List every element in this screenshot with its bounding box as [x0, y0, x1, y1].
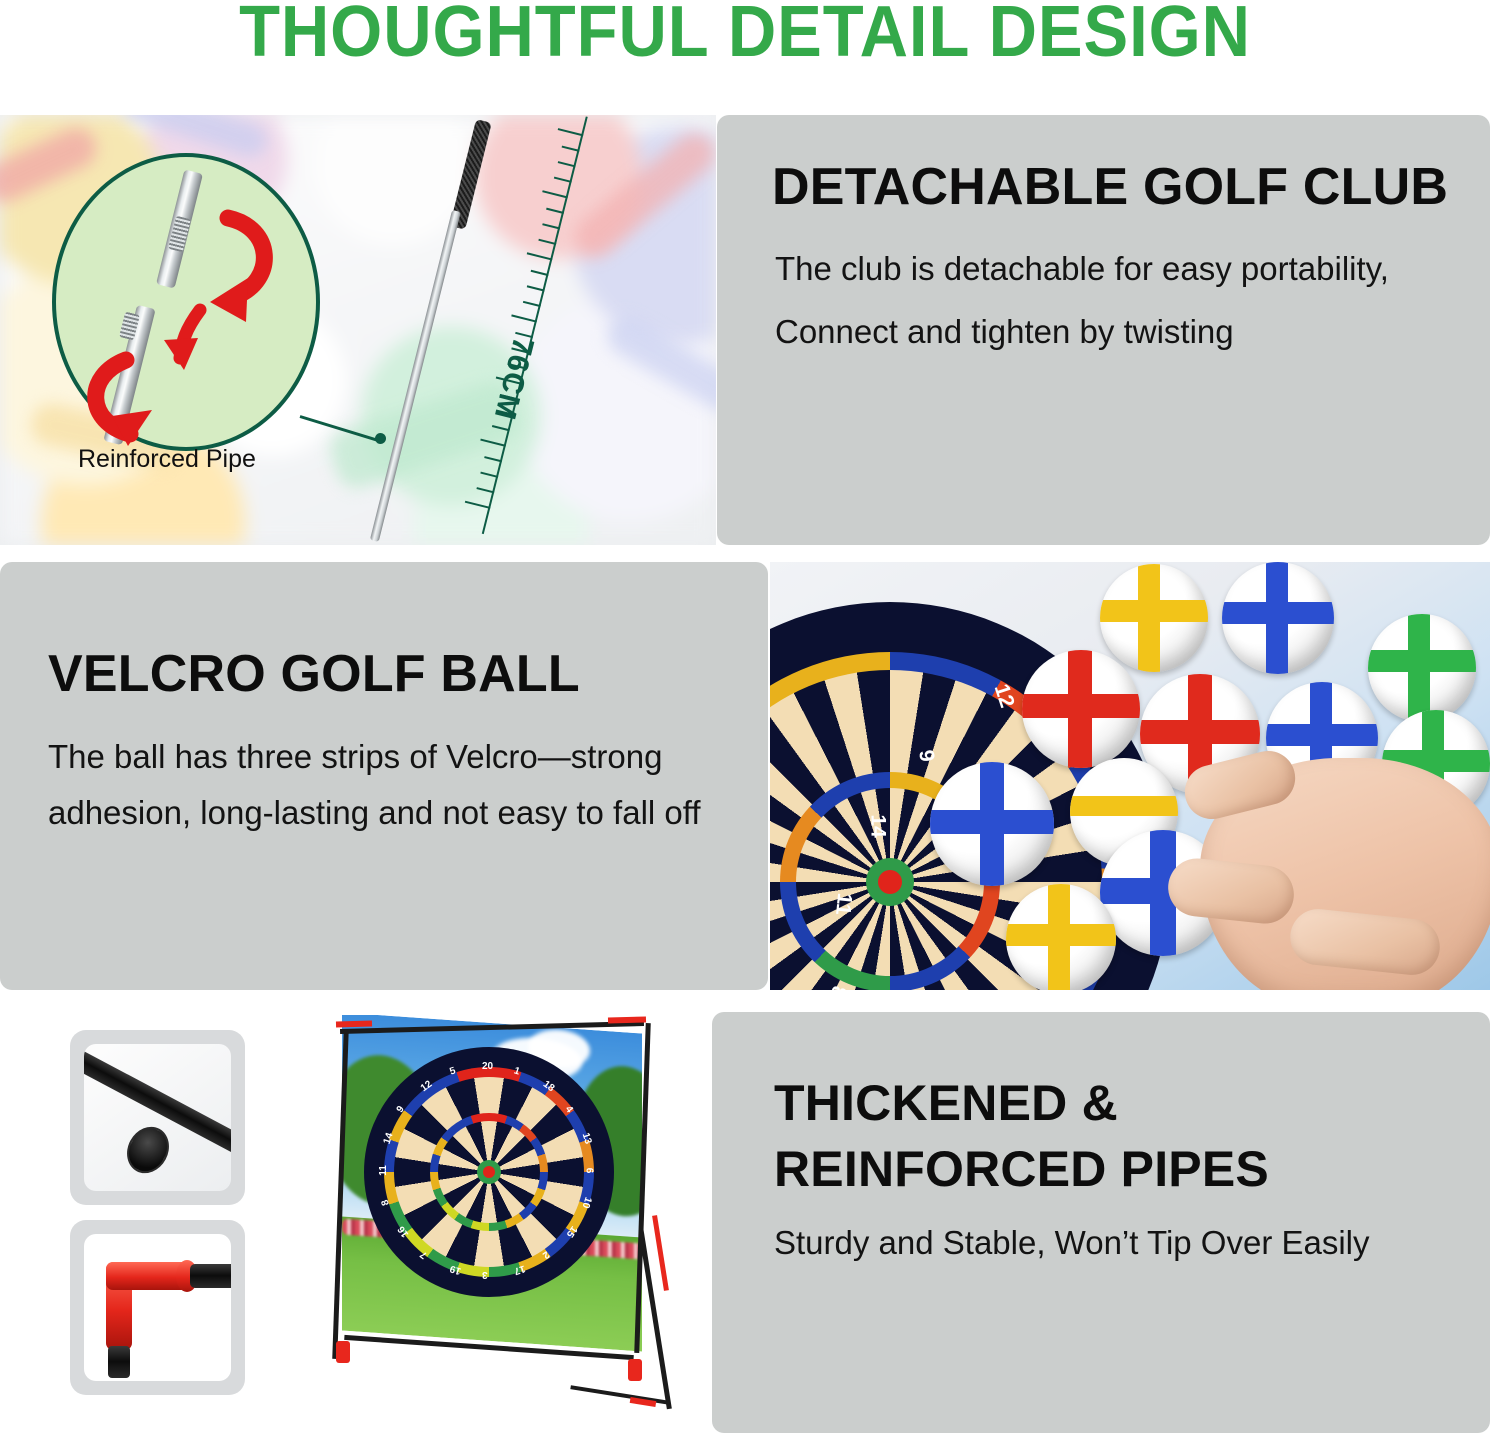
panel-body-line-1: The ball has three strips of Velcro—stro… — [48, 738, 662, 776]
stand-rear-leg-red — [652, 1215, 669, 1291]
stand-top-right-cap — [608, 1017, 646, 1024]
velcro-golf-ball-panel: VELCRO GOLF BALL The ball has three stri… — [0, 562, 768, 990]
black-pipe — [108, 1346, 130, 1378]
stand-dartboard-number: 11 — [378, 1165, 389, 1176]
velcro-ball — [1368, 614, 1476, 722]
thickened-pipes-panel: THICKENED & REINFORCED PIPES Sturdy and … — [712, 1012, 1490, 1433]
infographic-page: THOUGHTFUL DETAIL DESIGN Reinforced Pipe — [0, 0, 1490, 1439]
reinforced-pipe-label: Reinforced Pipe — [78, 445, 256, 474]
velcro-ball — [1222, 562, 1334, 674]
velcro-balls-photo: 5 12 9 14 11 8 — [770, 562, 1490, 990]
velcro-ball — [930, 762, 1054, 886]
panel-heading: DETACHABLE GOLF CLUB — [772, 157, 1448, 217]
stand-top-left-cap — [336, 1021, 372, 1028]
panel-heading-line-2: REINFORCED PIPES — [774, 1140, 1269, 1198]
panel-subtext: Sturdy and Stable, Won’t Tip Over Easily — [774, 1224, 1370, 1262]
velcro-ball — [1006, 884, 1116, 990]
dartboard-stand-photo: 2011841361015217319716811149125 — [322, 1015, 714, 1435]
velcro-ball — [1100, 564, 1208, 672]
pipe-opening — [119, 1119, 177, 1180]
red-elbow-tile — [70, 1220, 245, 1395]
stand-dartboard-number: 20 — [482, 1061, 493, 1072]
page-title: THOUGHTFUL DETAIL DESIGN — [52, 0, 1438, 68]
detachable-golf-club-panel: DETACHABLE GOLF CLUB The club is detacha… — [717, 115, 1490, 545]
reinforced-pipe-photo: Reinforced Pipe — [0, 115, 716, 545]
stand-dartboard-bullseye — [483, 1166, 495, 1178]
dartboard-number: 11 — [830, 892, 856, 917]
panel-body-line-2: Connect and tighten by twisting — [775, 313, 1234, 351]
stand-dartboard-number: 3 — [482, 1269, 488, 1280]
black-pipe-tile — [70, 1030, 245, 1205]
dartboard-number: 14 — [866, 814, 890, 837]
callout-leader-dot — [375, 433, 386, 444]
stand-left-foot — [336, 1341, 350, 1363]
dartboard-bullseye — [878, 870, 902, 894]
panel-body-line-1: The club is detachable for easy portabil… — [775, 250, 1389, 288]
panel-heading: VELCRO GOLF BALL — [48, 644, 580, 704]
panel-heading-line-1: THICKENED & — [774, 1074, 1118, 1132]
black-pipe — [190, 1264, 231, 1288]
ruler-measure-label: 76CM — [487, 334, 540, 424]
stand-right-foot — [628, 1359, 642, 1381]
velcro-ball — [1022, 650, 1140, 768]
panel-body-line-2: adhesion, long-lasting and not easy to f… — [48, 794, 701, 832]
twist-arrows — [60, 170, 310, 460]
stand-dartboard-number: 6 — [583, 1168, 594, 1174]
